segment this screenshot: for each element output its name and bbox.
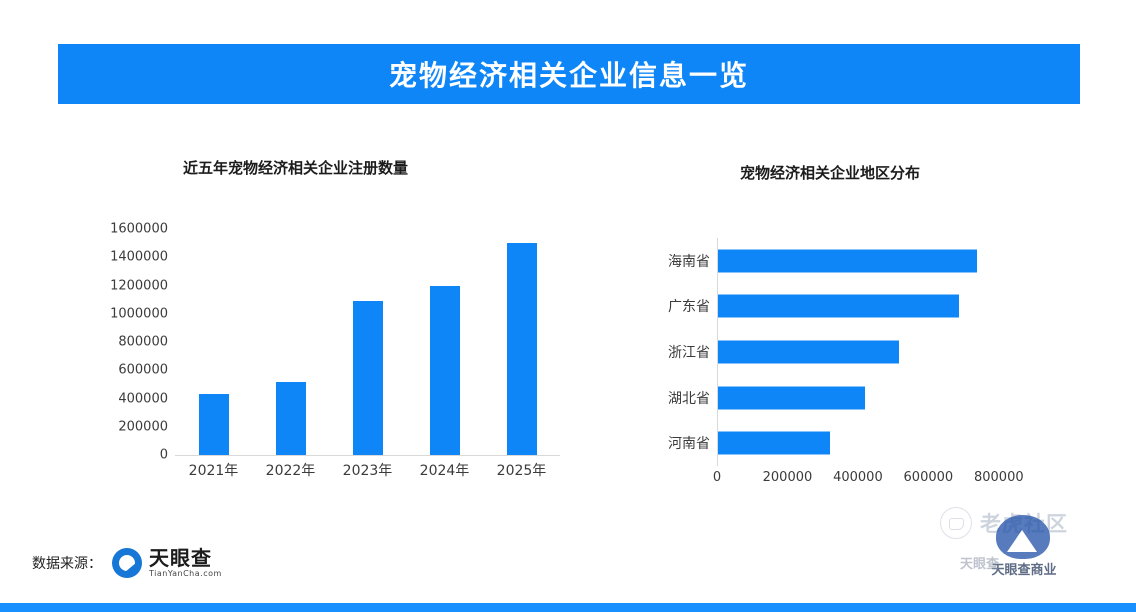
right-chart-x-axis: 0200000400000600000800000	[717, 470, 1037, 496]
right-chart-category-tick: 广东省	[668, 296, 710, 316]
right-chart-category-tick: 海南省	[668, 251, 710, 271]
watermark-area: 老虎社区 天眼查商业 天眼查	[932, 505, 1118, 585]
left-chart-x-tick: 2024年	[406, 460, 483, 480]
right-chart-bar	[718, 432, 830, 455]
right-chart-plot-area	[717, 238, 1028, 466]
tianyancha-wordmark: 天眼查 TianYanCha.com	[149, 548, 222, 578]
data-source-label: 数据来源：	[32, 553, 102, 573]
right-chart-category-tick: 湖北省	[668, 388, 710, 408]
left-chart-bar-slot	[483, 229, 560, 455]
left-chart-bar	[507, 243, 537, 455]
left-chart-x-axis: 2021年2022年2023年2024年2025年	[175, 460, 560, 486]
left-chart-y-tick: 600000	[118, 363, 168, 378]
right-chart-bar	[718, 386, 865, 409]
left-chart-bar	[199, 394, 229, 455]
left-chart-x-tick: 2025年	[483, 460, 560, 480]
left-chart-y-tick: 1600000	[110, 222, 168, 237]
right-chart-x-tick: 400000	[833, 470, 883, 485]
left-chart-x-tick: 2022年	[252, 460, 329, 480]
right-chart-x-tick: 800000	[974, 470, 1024, 485]
left-chart-bar	[430, 286, 460, 455]
left-chart-title: 近五年宠物经济相关企业注册数量	[183, 157, 408, 178]
right-chart-bar-slot	[718, 420, 1028, 466]
left-chart-y-tick: 1000000	[110, 306, 168, 321]
right-chart-bar-slot	[718, 238, 1028, 284]
right-chart-category-tick: 浙江省	[668, 342, 710, 362]
left-chart-y-axis: 0200000400000600000800000100000012000001…	[90, 215, 168, 460]
mountain-shield-icon	[996, 515, 1050, 559]
left-chart-x-tick: 2023年	[329, 460, 406, 480]
left-chart-bar-slot	[175, 229, 252, 455]
right-chart-bar	[718, 295, 959, 318]
left-chart-y-tick: 1400000	[110, 250, 168, 265]
data-source-row: 数据来源： 天眼查 TianYanCha.com	[32, 548, 222, 578]
right-chart-category-tick: 河南省	[668, 433, 710, 453]
tianyancha-watermark-overlay: 天眼查	[960, 553, 999, 572]
right-chart-category-axis: 海南省广东省浙江省湖北省河南省	[630, 238, 710, 466]
tianyancha-name-en: TianYanCha.com	[149, 570, 222, 578]
left-chart-bar-slot	[406, 229, 483, 455]
left-chart-bar-slot	[329, 229, 406, 455]
left-chart-x-tick: 2021年	[175, 460, 252, 480]
registration-count-bar-chart: 0200000400000600000800000100000012000001…	[90, 215, 590, 495]
right-chart-x-tick: 0	[713, 470, 721, 485]
tianyancha-name-cn: 天眼查	[149, 548, 222, 568]
left-chart-y-tick: 400000	[118, 391, 168, 406]
tianyancha-logo: 天眼查 TianYanCha.com	[112, 548, 222, 578]
left-chart-bar-slot	[252, 229, 329, 455]
left-chart-y-tick: 800000	[118, 335, 168, 350]
left-chart-y-tick: 1200000	[110, 278, 168, 293]
page-title: 宠物经济相关企业信息一览	[389, 54, 749, 94]
infographic-page: 宠物经济相关企业信息一览 近五年宠物经济相关企业注册数量 02000004000…	[0, 0, 1136, 612]
left-chart-plot-area	[175, 229, 560, 456]
paw-circle-icon	[940, 507, 972, 539]
right-chart-x-tick: 200000	[763, 470, 813, 485]
left-chart-y-tick: 0	[160, 448, 168, 463]
right-chart-bar-slot	[718, 284, 1028, 330]
right-chart-bar-slot	[718, 375, 1028, 421]
left-chart-y-tick: 200000	[118, 419, 168, 434]
left-chart-bar	[353, 301, 383, 455]
tianyancha-logo-icon	[112, 548, 142, 578]
right-chart-x-tick: 600000	[904, 470, 954, 485]
right-chart-bar	[718, 340, 899, 363]
right-chart-bar-slot	[718, 329, 1028, 375]
right-chart-title: 宠物经济相关企业地区分布	[740, 162, 920, 183]
left-chart-bar	[276, 382, 306, 455]
right-chart-bar	[718, 249, 977, 272]
page-title-banner: 宠物经济相关企业信息一览	[58, 44, 1080, 104]
region-distribution-bar-chart: 海南省广东省浙江省湖北省河南省 020000040000060000080000…	[630, 238, 1060, 503]
